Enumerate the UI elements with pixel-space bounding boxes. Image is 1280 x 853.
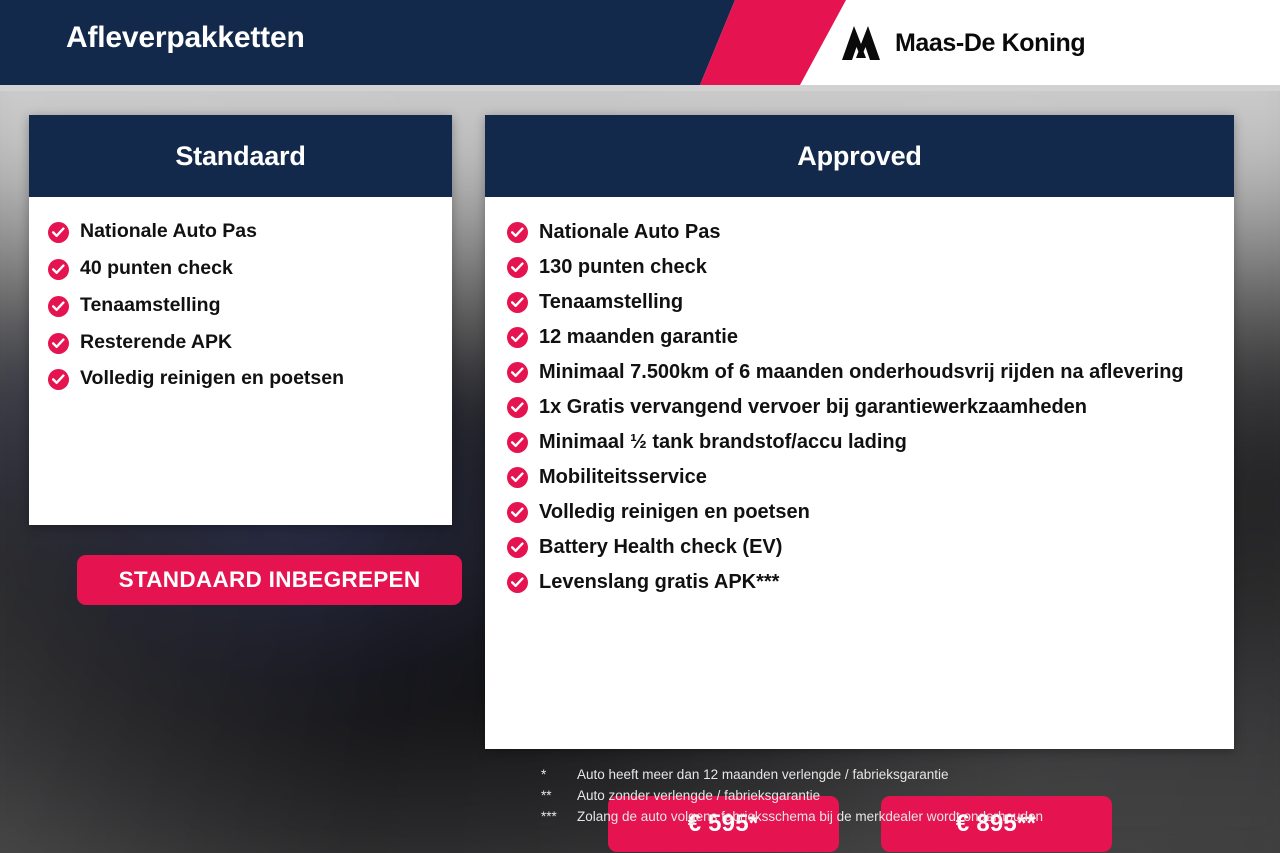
feature-item: 40 punten check: [48, 256, 452, 281]
feature-item: Volledig reinigen en poetsen: [48, 366, 452, 391]
feature-label: 130 punten check: [539, 254, 707, 280]
check-circle-icon: [507, 257, 528, 278]
feature-label: Tenaamstelling: [80, 293, 221, 318]
feature-label: Levenslang gratis APK***: [539, 569, 779, 595]
check-circle-icon: [48, 369, 69, 390]
feature-item: Volledig reinigen en poetsen: [507, 499, 1234, 525]
check-circle-icon: [507, 222, 528, 243]
top-banner: Afleverpakketten Maas-De Koning: [0, 0, 1280, 85]
card-header-standaard: Standaard: [29, 115, 452, 197]
feature-item: Tenaamstelling: [507, 289, 1234, 315]
feature-label: Mobiliteitsservice: [539, 464, 707, 490]
footnote-text: Zolang de auto volgens fabrieksschema bi…: [577, 807, 1043, 828]
feature-item: Mobiliteitsservice: [507, 464, 1234, 490]
feature-item: 12 maanden garantie: [507, 324, 1234, 350]
check-circle-icon: [48, 296, 69, 317]
feature-list-approved: Nationale Auto Pas130 punten checkTenaam…: [507, 219, 1234, 595]
feature-item: Minimaal 7.500km of 6 maanden onderhouds…: [507, 359, 1234, 385]
check-circle-icon: [507, 572, 528, 593]
footnote-text: Auto heeft meer dan 12 maanden verlengde…: [577, 765, 949, 786]
check-circle-icon: [48, 333, 69, 354]
feature-item: Levenslang gratis APK***: [507, 569, 1234, 595]
footnote-marker: ***: [541, 807, 577, 828]
feature-label: Battery Health check (EV): [539, 534, 782, 560]
package-card-standaard: Standaard Nationale Auto Pas40 punten ch…: [29, 115, 452, 525]
feature-item: 1x Gratis vervangend vervoer bij garanti…: [507, 394, 1234, 420]
footnote-row: **Auto zonder verlengde / fabrieksgarant…: [541, 786, 1043, 807]
feature-item: Nationale Auto Pas: [48, 219, 452, 244]
check-circle-icon: [507, 537, 528, 558]
card-title-standaard: Standaard: [175, 141, 305, 172]
check-circle-icon: [507, 502, 528, 523]
feature-label: 1x Gratis vervangend vervoer bij garanti…: [539, 394, 1087, 420]
feature-label: 40 punten check: [80, 256, 233, 281]
feature-item: Nationale Auto Pas: [507, 219, 1234, 245]
brand-logo: Maas-De Koning: [840, 24, 1085, 62]
footnote-marker: *: [541, 765, 577, 786]
card-body-standaard: Nationale Auto Pas40 punten checkTenaams…: [29, 197, 452, 392]
feature-label: Resterende APK: [80, 330, 232, 355]
banner-underline-strip: [0, 85, 1280, 91]
feature-item: Resterende APK: [48, 330, 452, 355]
feature-label: Volledig reinigen en poetsen: [539, 499, 810, 525]
feature-label: Minimaal ½ tank brandstof/accu lading: [539, 429, 907, 455]
feature-label: Nationale Auto Pas: [80, 219, 257, 244]
feature-item: Battery Health check (EV): [507, 534, 1234, 560]
check-circle-icon: [507, 397, 528, 418]
feature-label: Nationale Auto Pas: [539, 219, 721, 245]
feature-label: Minimaal 7.500km of 6 maanden onderhouds…: [539, 359, 1184, 385]
feature-item: Minimaal ½ tank brandstof/accu lading: [507, 429, 1234, 455]
card-body-approved: Nationale Auto Pas130 punten checkTenaam…: [485, 197, 1234, 595]
footnote-text: Auto zonder verlengde / fabrieksgarantie: [577, 786, 820, 807]
maas-de-koning-m-icon: [840, 24, 882, 62]
standaard-inbegrepen-button[interactable]: STANDAARD INBEGREPEN: [77, 555, 462, 605]
feature-label: Volledig reinigen en poetsen: [80, 366, 344, 391]
footnote-marker: **: [541, 786, 577, 807]
check-circle-icon: [507, 327, 528, 348]
feature-item: 130 punten check: [507, 254, 1234, 280]
check-circle-icon: [507, 432, 528, 453]
feature-item: Tenaamstelling: [48, 293, 452, 318]
page-title: Afleverpakketten: [66, 21, 305, 55]
footnote-row: *Auto heeft meer dan 12 maanden verlengd…: [541, 765, 1043, 786]
package-card-approved: Approved Nationale Auto Pas130 punten ch…: [485, 115, 1234, 749]
feature-list-standaard: Nationale Auto Pas40 punten checkTenaams…: [48, 219, 452, 392]
brand-name: Maas-De Koning: [895, 29, 1085, 58]
footnote-row: ***Zolang de auto volgens fabrieksschema…: [541, 807, 1043, 828]
check-circle-icon: [48, 259, 69, 280]
card-header-approved: Approved: [485, 115, 1234, 197]
footnote-list: *Auto heeft meer dan 12 maanden verlengd…: [541, 765, 1043, 828]
check-circle-icon: [507, 292, 528, 313]
check-circle-icon: [507, 362, 528, 383]
check-circle-icon: [48, 222, 69, 243]
feature-label: 12 maanden garantie: [539, 324, 738, 350]
card-title-approved: Approved: [797, 141, 921, 172]
feature-label: Tenaamstelling: [539, 289, 683, 315]
check-circle-icon: [507, 467, 528, 488]
